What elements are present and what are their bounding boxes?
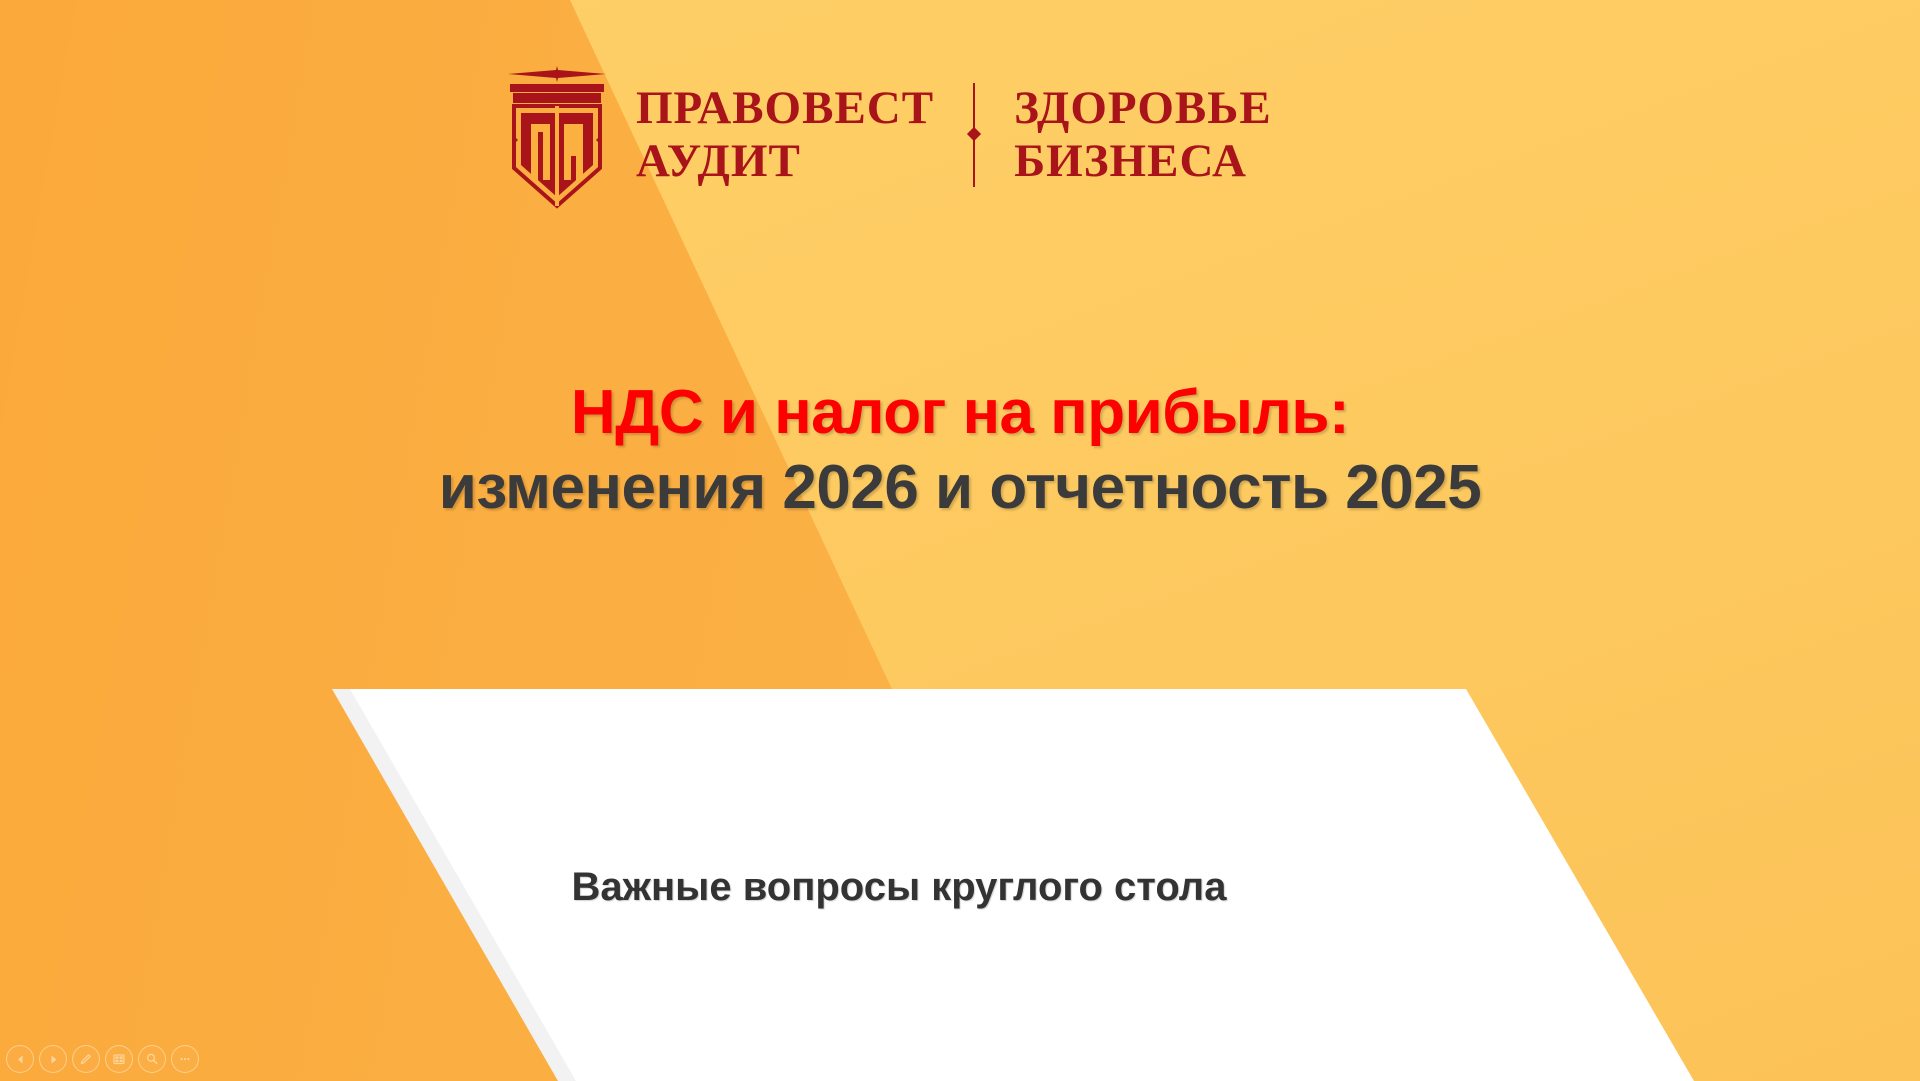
previous-slide-icon[interactable] (6, 1045, 34, 1073)
title-line-secondary: изменения 2026 и отчетность 2025 (0, 453, 1920, 522)
title-line-primary: НДС и налог на прибыль: (0, 378, 1920, 447)
logo-secondary-line2: БИЗНЕСА (1014, 138, 1272, 185)
pen-annotate-icon[interactable] (72, 1045, 100, 1073)
slide-grid-icon[interactable] (105, 1045, 133, 1073)
presentation-slide: ПРАВОВЕСТ АУДИТ ЗДОРОВЬЕ БИЗНЕСА НДС и н… (0, 0, 1920, 1081)
more-options-icon[interactable] (171, 1045, 199, 1073)
shield-logo-icon (498, 60, 616, 210)
panel-caption: Важные вопросы круглого стола (332, 865, 1466, 910)
play-slideshow-icon[interactable] (39, 1045, 67, 1073)
logo-wordmark-primary: ПРАВОВЕСТ АУДИТ (636, 85, 934, 185)
slide-title: НДС и налог на прибыль: изменения 2026 и… (0, 378, 1920, 523)
logo-divider (972, 83, 976, 187)
logo-wordmark-line2: АУДИТ (636, 138, 934, 185)
zoom-in-icon[interactable] (138, 1045, 166, 1073)
logo-divider-diamond-icon (967, 127, 981, 141)
logo-wordmark-secondary: ЗДОРОВЬЕ БИЗНЕСА (1014, 85, 1272, 185)
brand-logo-lockup: ПРАВОВЕСТ АУДИТ ЗДОРОВЬЕ БИЗНЕСА (498, 60, 1272, 210)
presentation-toolbar[interactable] (6, 1045, 199, 1073)
logo-secondary-line1: ЗДОРОВЬЕ (1014, 85, 1272, 132)
logo-wordmark-line1: ПРАВОВЕСТ (636, 85, 934, 132)
